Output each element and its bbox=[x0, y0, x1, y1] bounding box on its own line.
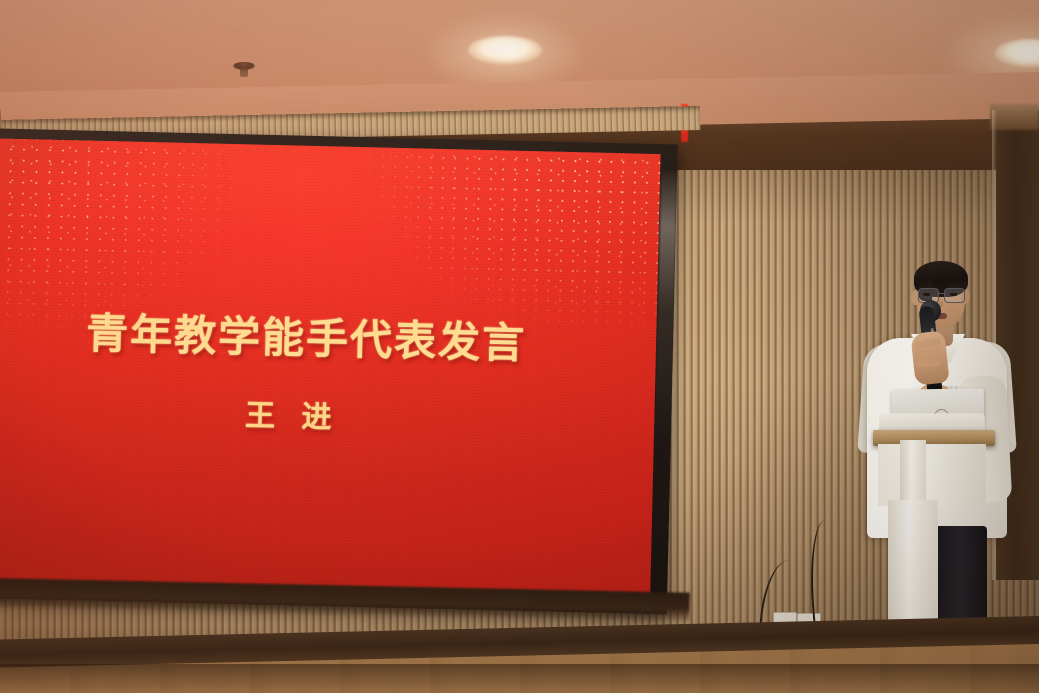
eyeglass-bridge bbox=[937, 293, 945, 294]
wall-recess-header bbox=[990, 104, 1039, 130]
conference-room-photo: 青年教学能手代表发言 王 进 bbox=[0, 0, 1039, 693]
floor-shadow bbox=[0, 664, 1039, 693]
presenter-eye-right bbox=[950, 293, 957, 296]
ceiling-light-left-icon bbox=[468, 36, 542, 64]
sprinkler-head-icon bbox=[233, 62, 255, 70]
podium-body bbox=[878, 444, 986, 506]
slide-subtitle-speaker-name: 王 进 bbox=[245, 390, 340, 436]
led-wall-display[interactable]: 青年教学能手代表发言 王 进 bbox=[0, 128, 678, 614]
display-surface[interactable]: 青年教学能手代表发言 王 进 bbox=[0, 138, 661, 602]
slide-text-block: 青年教学能手代表发言 王 进 bbox=[0, 138, 661, 602]
presenter-eye-left bbox=[923, 293, 930, 296]
slide-title: 青年教学能手代表发言 bbox=[86, 299, 527, 370]
